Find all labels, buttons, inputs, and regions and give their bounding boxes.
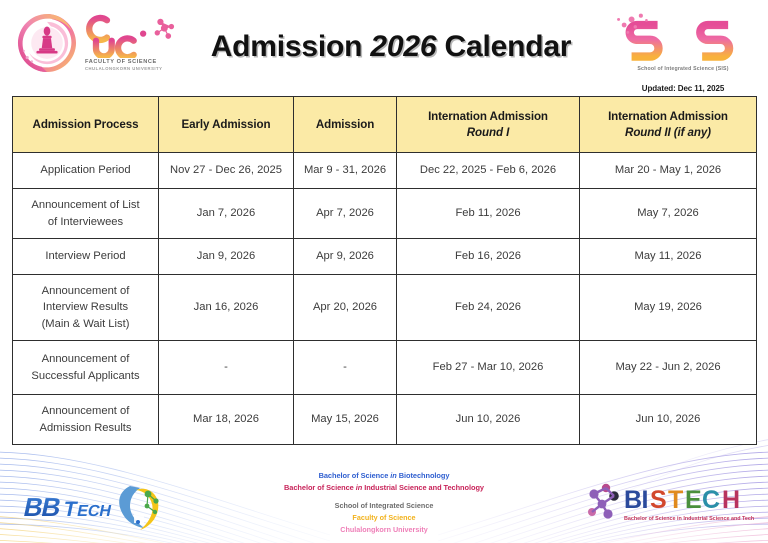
row-label-line1: Announcement of [42,353,130,365]
cell-admission: Apr 7, 2026 [294,189,397,239]
cell-international-round-2: Jun 10, 2026 [580,395,757,445]
bistech-logo-icon: BI S T E C H Bachelor of Science in Indu… [584,480,754,530]
bistech-caption: Bachelor of Science in Industrial Scienc… [624,516,754,522]
row-label-line1: Announcement of List [31,199,139,211]
svg-text:T: T [668,486,683,514]
admission-calendar-table: Admission Process Early Admission Admiss… [12,96,757,445]
footer-program-biotechnology: Bachelor of Science in Biotechnology [284,470,484,482]
cell-admission: Apr 9, 2026 [294,239,397,275]
header-line1: Internation Admission [608,110,728,123]
cuci-wordmark-icon [85,14,179,58]
updated-date: Updated: Dec 11, 2025 [642,84,724,93]
bistech-molecule-icon [588,484,619,519]
column-header-admission: Admission [294,97,397,153]
title-year: 2026 [370,30,436,63]
cell-international-round-2: May 19, 2026 [580,275,757,341]
header-line1: Early Admission [182,118,271,131]
row-label: Interview Period [13,239,159,275]
sis-logo-icon [613,12,752,64]
bbtech-logo-icon: BB T ECH [14,480,164,532]
program1-pre: Bachelor of Science [319,471,391,480]
calendar-table-container: Admission Process Early Admission Admiss… [12,96,756,445]
footer-university: Chulalongkorn University [284,524,484,536]
svg-text:E: E [685,486,701,514]
page-title: Admission 2026 Calendar [174,30,608,64]
table-row: Interview Period Jan 9, 2026 Apr 9, 2026… [13,239,757,275]
row-label: Announcement of Interview Results (Main … [13,275,159,341]
cell-early-admission: Jan 7, 2026 [159,189,294,239]
svg-text:H: H [722,486,740,514]
row-label: Announcement of Successful Applicants [13,341,159,395]
cell-admission: - [294,341,397,395]
svg-text:C: C [702,486,720,514]
column-header-early-admission: Early Admission [159,97,294,153]
program2-post: Industrial Science and Technology [362,483,484,492]
sis-logo-block: School of Integrated Science (SIS) Updat… [608,6,758,93]
row-label-line1: Announcement of [42,285,130,297]
column-header-international-round-1: Internation Admission Round I [397,97,580,153]
cell-early-admission: Jan 9, 2026 [159,239,294,275]
table-row: Announcement of Admission Results Mar 18… [13,395,757,445]
cell-international-round-1: Feb 27 - Mar 10, 2026 [397,341,580,395]
row-label-line1: Interview Period [45,250,125,262]
page-footer: BB T ECH Bachelor of Science in Biotechn… [0,466,768,543]
column-header-international-round-2: Internation Admission Round II (if any) [580,97,757,153]
title-container: Admission 2026 Calendar [174,6,608,64]
footer-program-industrial: Bachelor of Science in Industrial Scienc… [284,482,484,494]
cu-faculty-of-science-logo: FACULTY OF SCIENCE CHULALONGKORN UNIVERS… [14,10,174,76]
cell-international-round-1: Jun 10, 2026 [397,395,580,445]
cell-international-round-1: Dec 22, 2025 - Feb 6, 2026 [397,153,580,189]
row-label: Application Period [13,153,159,189]
table-row: Announcement of Successful Applicants - … [13,341,757,395]
svg-text:BI: BI [624,486,648,514]
page-header: FACULTY OF SCIENCE CHULALONGKORN UNIVERS… [0,0,768,92]
cell-early-admission: Jan 16, 2026 [159,275,294,341]
title-part1: Admission [211,30,371,63]
cu-logo-line1: FACULTY OF SCIENCE [85,60,179,66]
cell-admission: Mar 9 - 31, 2026 [294,153,397,189]
svg-text:S: S [650,486,666,514]
title-part2: Calendar [436,30,571,63]
program1-post: Biotechnology [397,471,450,480]
header-line2: Round II (if any) [625,126,711,139]
row-label-line1: Application Period [40,164,130,176]
cell-international-round-2: May 7, 2026 [580,189,757,239]
cell-international-round-2: May 11, 2026 [580,239,757,275]
sis-logo-caption: School of Integrated Science (SIS) [637,66,728,72]
cell-early-admission: - [159,341,294,395]
cell-early-admission: Nov 27 - Dec 26, 2025 [159,153,294,189]
cell-admission: Apr 20, 2026 [294,275,397,341]
table-row: Application Period Nov 27 - Dec 26, 2025… [13,153,757,189]
row-label-line1: Announcement of [42,405,130,417]
table-row: Announcement of List of Interviewees Jan… [13,189,757,239]
column-header-admission-process: Admission Process [13,97,159,153]
row-label-line2: Admission Results [39,422,131,434]
header-line1: Admission Process [33,118,139,131]
footer-faculty: Faculty of Science [284,512,484,524]
cell-international-round-2: Mar 20 - May 1, 2026 [580,153,757,189]
row-label: Announcement of Admission Results [13,395,159,445]
table-row: Announcement of Interview Results (Main … [13,275,757,341]
cell-international-round-2: May 22 - Jun 2, 2026 [580,341,757,395]
cell-international-round-1: Feb 16, 2026 [397,239,580,275]
header-line2: Round I [467,126,509,139]
header-line1: Internation Admission [428,110,548,123]
row-label: Announcement of List of Interviewees [13,189,159,239]
row-label-line3: (Main & Wait List) [42,318,130,330]
row-label-line2: of Interviewees [48,216,123,228]
row-label-line2: Interview Results [43,301,128,313]
cu-emblem-icon [14,10,80,76]
cell-early-admission: Mar 18, 2026 [159,395,294,445]
table-header: Admission Process Early Admission Admiss… [13,97,757,153]
svg-text:BB: BB [21,492,63,522]
footer-school: School of Integrated Science [284,500,484,512]
program2-pre: Bachelor of Science [284,483,356,492]
cell-admission: May 15, 2026 [294,395,397,445]
cell-international-round-1: Feb 11, 2026 [397,189,580,239]
header-line1: Admission [316,118,374,131]
table-header-row: Admission Process Early Admission Admiss… [13,97,757,153]
cell-international-round-1: Feb 24, 2026 [397,275,580,341]
cu-logo-line2: CHULALONGKORN UNIVERSITY [85,67,179,71]
table-body: Application Period Nov 27 - Dec 26, 2025… [13,153,757,445]
row-label-line2: Successful Applicants [31,370,139,382]
svg-text:ECH: ECH [76,502,114,520]
footer-text-block: Bachelor of Science in Biotechnology Bac… [284,470,484,537]
